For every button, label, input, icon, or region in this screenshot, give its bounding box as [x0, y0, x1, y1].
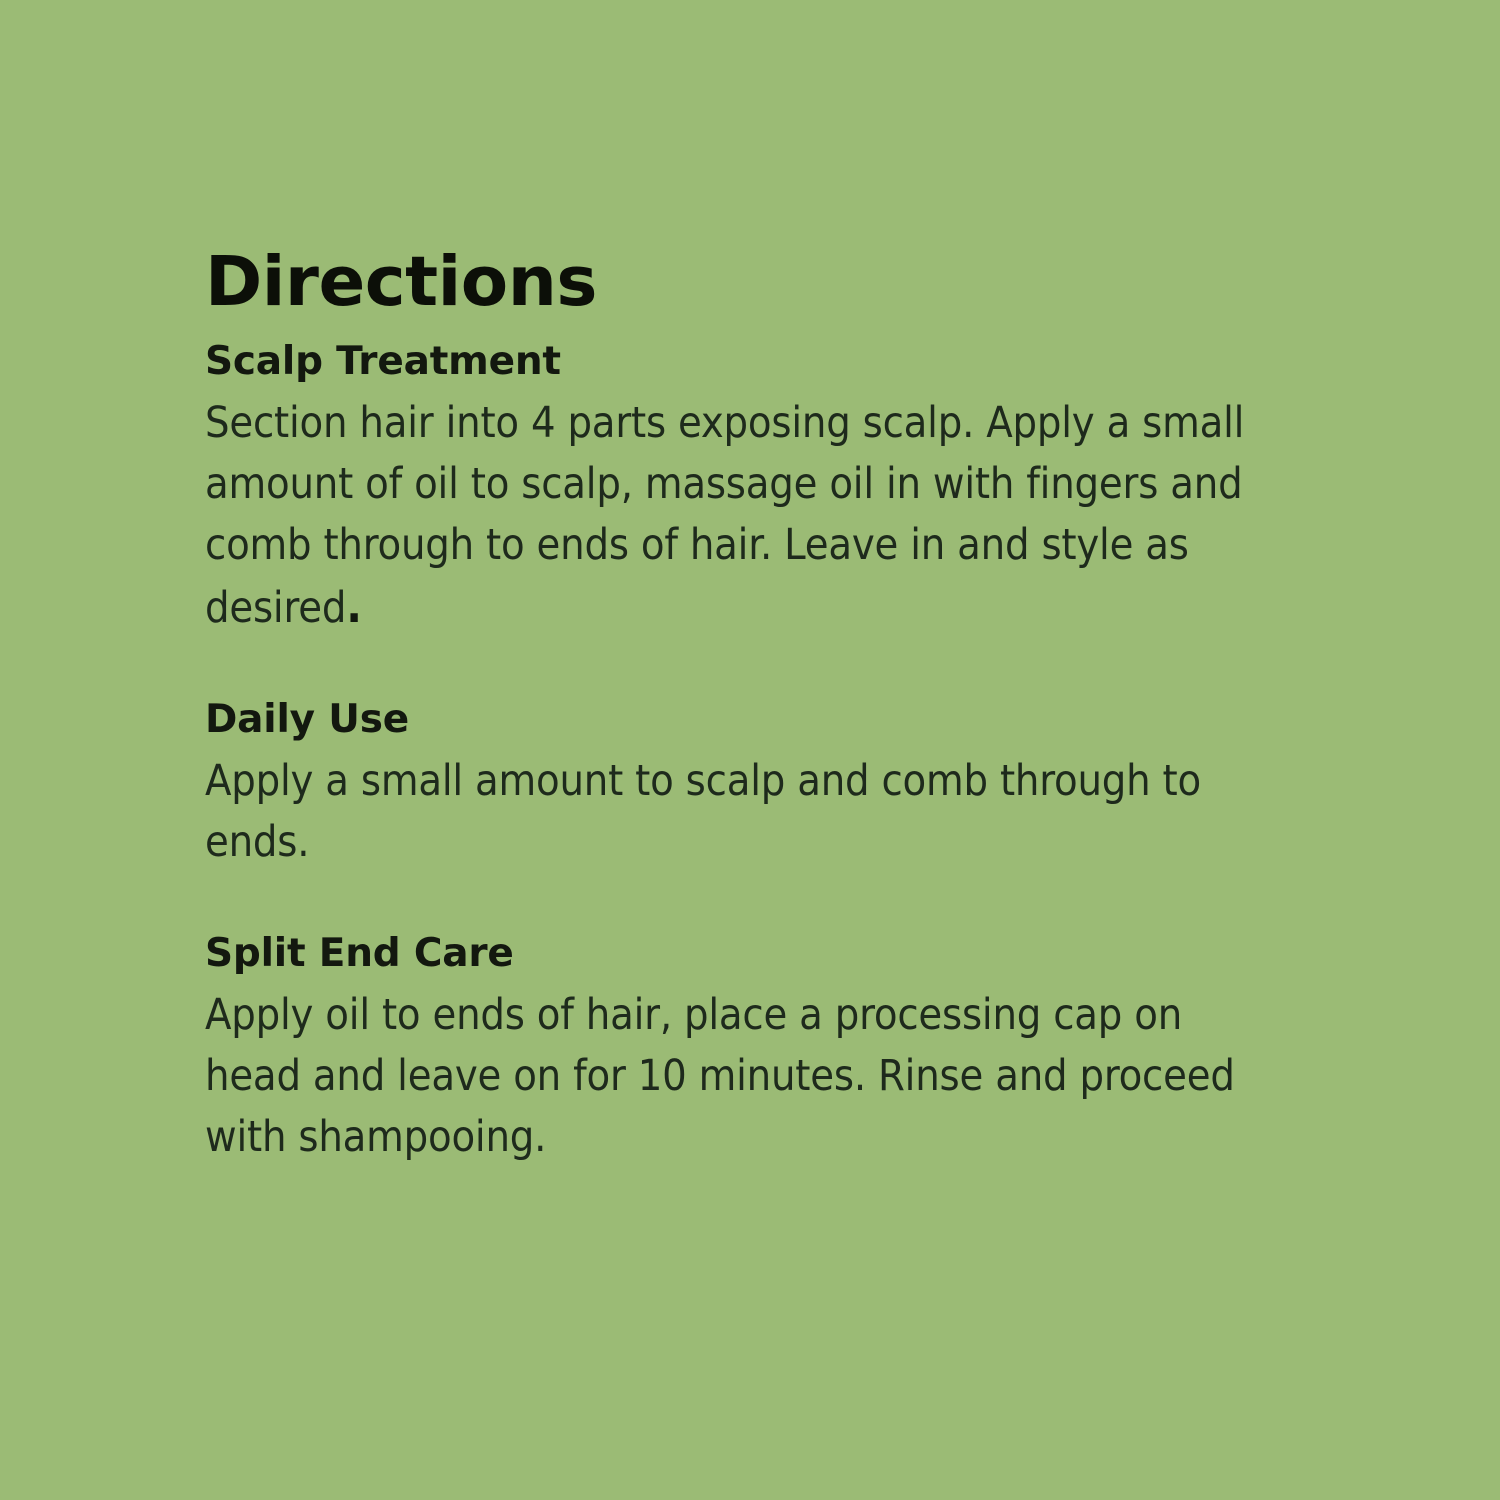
section-heading-split-end-care: Split End Care — [205, 931, 1265, 977]
section-heading-scalp-treatment: Scalp Treatment — [205, 339, 1265, 385]
section-split-end-care: Split End Care Apply oil to ends of hair… — [205, 931, 1265, 1168]
directions-content: Directions Scalp Treatment Section hair … — [205, 248, 1265, 1168]
section-scalp-treatment: Scalp Treatment Section hair into 4 part… — [205, 339, 1265, 639]
section-daily-use: Daily Use Apply a small amount to scalp … — [205, 697, 1265, 873]
directions-panel: Directions Scalp Treatment Section hair … — [0, 0, 1500, 1500]
section-heading-daily-use: Daily Use — [205, 697, 1265, 743]
page-title: Directions — [205, 248, 1265, 317]
section-body-scalp-treatment: Section hair into 4 parts exposing scalp… — [205, 393, 1255, 639]
section-body-split-end-care: Apply oil to ends of hair, place a proce… — [205, 985, 1255, 1168]
section-body-emphasized-period: . — [346, 579, 362, 633]
section-body-daily-use: Apply a small amount to scalp and comb t… — [205, 751, 1255, 873]
